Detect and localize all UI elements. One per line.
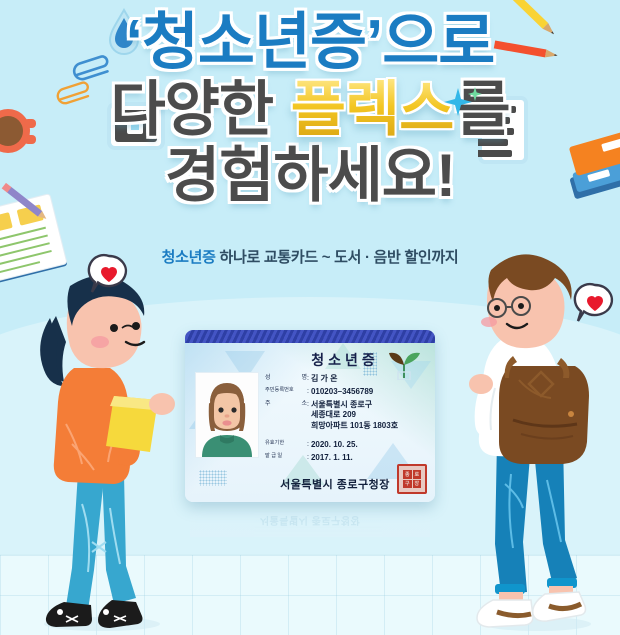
id-card-field-name-label: 성 명 (265, 374, 307, 382)
rrn-colon: : (307, 387, 309, 396)
issue-colon: : (307, 453, 309, 462)
id-card-dot-pattern-bottom (199, 470, 227, 486)
id-card-dates: 유효기한 : 2020. 10. 25. 발 급 일 : 2017. 1. 11… (265, 440, 433, 466)
youth-id-card: 청소년증 성 명 : 김 가 온 주민등록번호 : 010203–3456789… (185, 330, 435, 502)
water-drop-icon (108, 8, 142, 66)
id-card-expiry-value: 2020. 10. 25. (311, 440, 433, 451)
seal-char-3: 구 (403, 480, 412, 489)
id-card-reflection: 서울특별시 종로구청장 (190, 503, 430, 537)
promo-banner: ‘청소년증’으로 다양한 플렉스를 경험하세요! 청소년증 하나로 교통카드 ~… (0, 0, 620, 635)
id-card-fields: 성 명 : 김 가 온 주민등록번호 : 010203–3456789 주 소 … (265, 374, 433, 434)
id-card-name-value: 김 가 온 (311, 374, 433, 385)
id-card-photo (195, 372, 259, 458)
id-card-field-rrn: 주민등록번호 : 010203–3456789 (265, 387, 433, 398)
heart-speech-bubble-icon-right (572, 281, 618, 327)
id-card-address-value: 서울특별시 종로구 세종대로 209 희망아파트 101동 1803호 (311, 400, 433, 432)
keyboard-icon (478, 96, 528, 164)
seal-char-2: 로 (413, 470, 422, 479)
addr-label-start: 주 (265, 400, 271, 408)
name-label-start: 성 (265, 374, 271, 382)
name-colon: : (307, 374, 309, 383)
id-card-field-issue: 발 급 일 : 2017. 1. 11. (265, 453, 433, 464)
id-card-field-name: 성 명 : 김 가 온 (265, 374, 433, 385)
girl-student-illustration (22, 272, 192, 635)
id-card-issue-value: 2017. 1. 11. (311, 453, 433, 464)
subtitle-emphasis: 청소년증 (162, 249, 216, 266)
addr-colon: : (307, 400, 309, 409)
camera-icon (107, 100, 165, 152)
id-card-field-rrn-label: 주민등록번호 (265, 387, 307, 394)
id-card-issue-label: 발 급 일 (265, 453, 307, 460)
subtitle: 청소년증 하나로 교통카드 ~ 도서 · 음반 할인까지 (0, 246, 620, 267)
id-card-field-address-label: 주 소 (265, 400, 307, 408)
subtitle-rest: 하나로 교통카드 ~ 도서 · 음반 할인까지 (216, 249, 459, 266)
id-card-issuer: 서울특별시 종로구청장 (255, 476, 415, 492)
id-card-expiry-label: 유효기한 (265, 440, 307, 447)
official-seal-stamp: 종 로 구 장 (397, 464, 427, 494)
seal-char-4: 장 (413, 480, 422, 489)
id-card-rrn-value: 010203–3456789 (311, 387, 433, 398)
id-card-field-expiry: 유효기한 : 2020. 10. 25. (265, 440, 433, 451)
seal-char-1: 종 (403, 470, 412, 479)
id-card-title: 청소년증 (265, 350, 425, 370)
id-card-field-address: 주 소 : 서울특별시 종로구 세종대로 209 희망아파트 101동 1803… (265, 400, 433, 432)
id-card-reflection-text: 서울특별시 종로구청장 (190, 514, 430, 529)
id-card-top-band (185, 330, 435, 343)
seal-characters: 종 로 구 장 (403, 470, 421, 488)
expiry-colon: : (307, 440, 309, 449)
coffee-cup-icon (0, 105, 42, 157)
